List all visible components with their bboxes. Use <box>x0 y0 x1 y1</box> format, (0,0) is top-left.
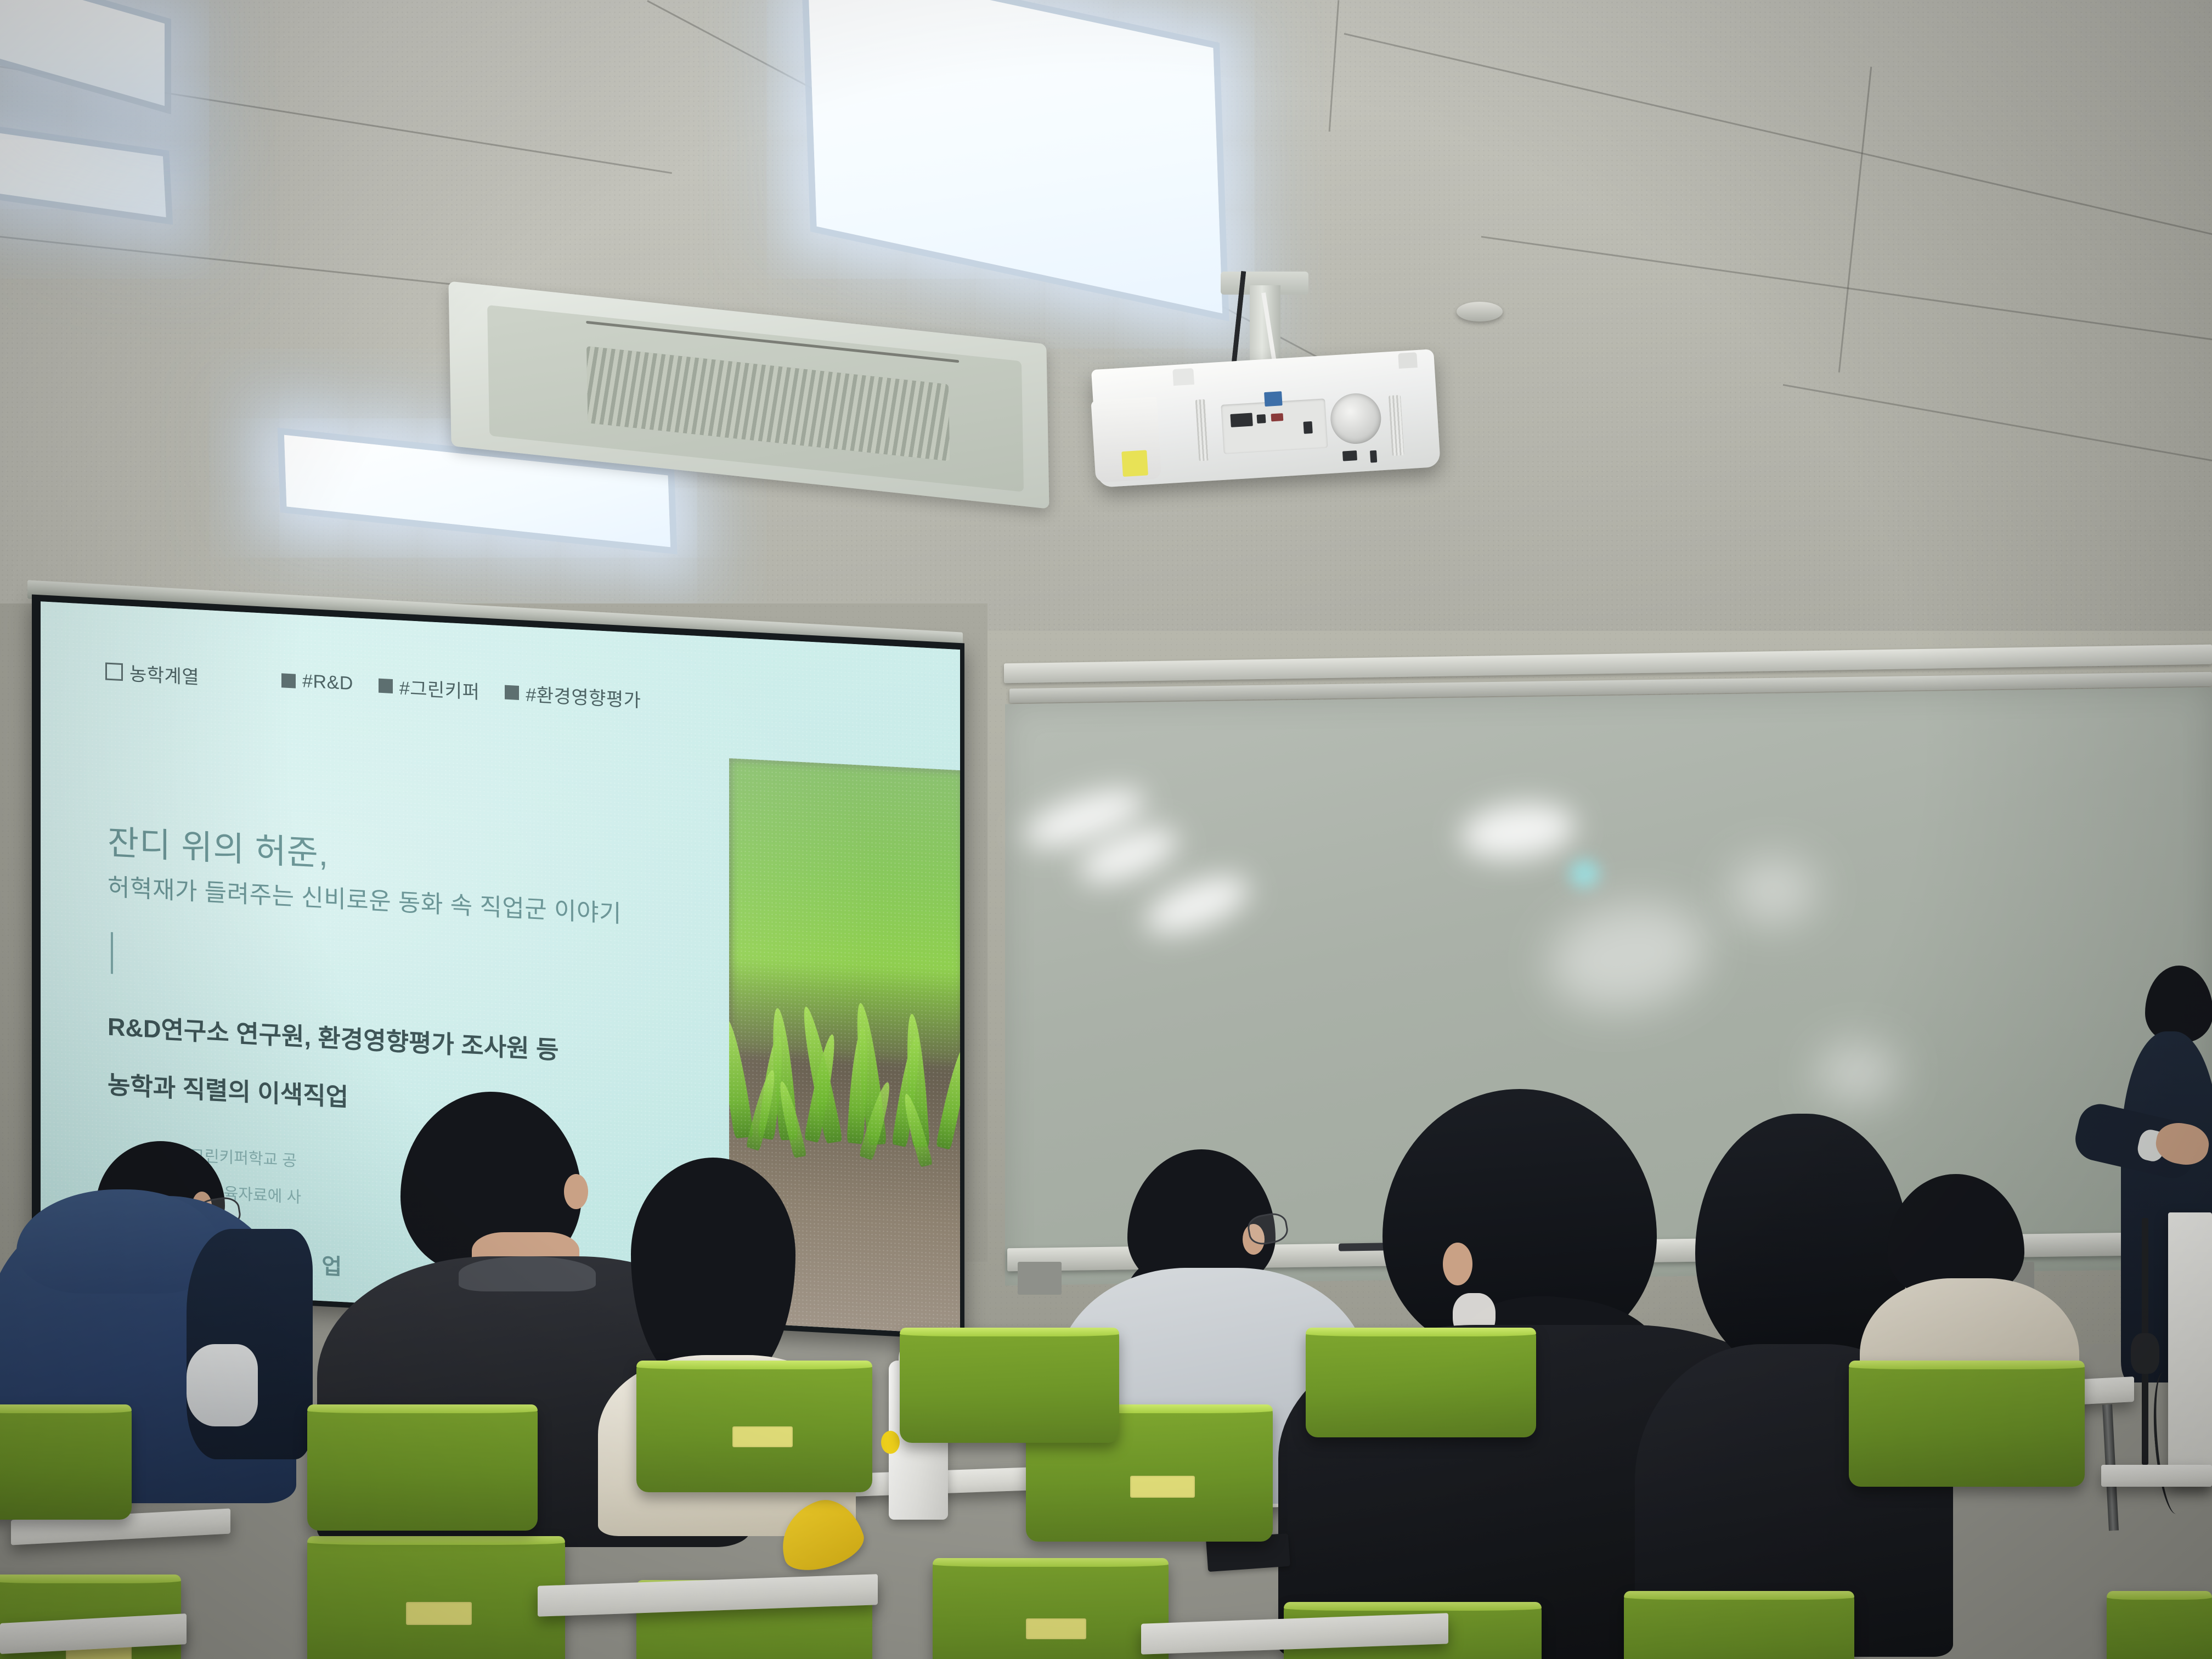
slide-divider <box>111 932 113 974</box>
shirt-cuff <box>187 1344 258 1426</box>
jacket-collar <box>459 1256 596 1291</box>
filled-square-icon <box>379 678 393 693</box>
chair-row1-right <box>933 1558 1169 1659</box>
filled-square-icon <box>281 673 296 688</box>
smoke-detector-icon <box>1457 302 1503 321</box>
slide-tag-label: #R&D <box>302 670 353 695</box>
presenter-hair <box>2145 966 2212 1042</box>
slide-tag-2: #그린키퍼 <box>379 672 480 704</box>
chair-right-far <box>1624 1591 1854 1659</box>
tumbler-clip <box>881 1431 900 1454</box>
chair-asset-label <box>1130 1476 1195 1498</box>
student-hair <box>631 1158 795 1388</box>
hollow-square-icon <box>105 662 123 681</box>
slide-tag-label: 농학계열 <box>129 659 199 690</box>
chair-asset-label <box>406 1602 472 1625</box>
chair-row3-d <box>2107 1591 2212 1659</box>
chair-row2-b <box>636 1361 872 1492</box>
chair-row2-a <box>307 1404 538 1531</box>
chair-row1-center <box>307 1536 565 1659</box>
slide-tag-label: #그린키퍼 <box>399 673 480 704</box>
chair-asset-label <box>732 1426 793 1447</box>
chair-asset-label <box>1026 1618 1086 1639</box>
projector-sticker <box>1121 450 1148 477</box>
ear <box>564 1174 588 1209</box>
filled-square-icon <box>505 685 519 699</box>
desk-back-right-2 <box>2101 1465 2212 1487</box>
chair-row3-a <box>900 1328 1119 1443</box>
chair-left-far <box>0 1404 132 1520</box>
chair-row3-b <box>1306 1328 1536 1437</box>
jacket-hood <box>16 1189 219 1294</box>
ear <box>1443 1243 1472 1285</box>
jacket-dark-panel <box>187 1229 313 1459</box>
slide-tag-0: 농학계열 <box>105 657 199 689</box>
lecture-hall-photo: 농학계열 #R&D #그린키퍼 #환경영향평가 잔디 위의 허준, 허혁재가 들… <box>0 0 2212 1659</box>
slide-tag-1: #R&D <box>281 669 353 695</box>
microphone-head-icon <box>2131 1333 2159 1374</box>
projector <box>1091 349 1441 488</box>
chair-row3-c <box>1849 1361 2085 1487</box>
